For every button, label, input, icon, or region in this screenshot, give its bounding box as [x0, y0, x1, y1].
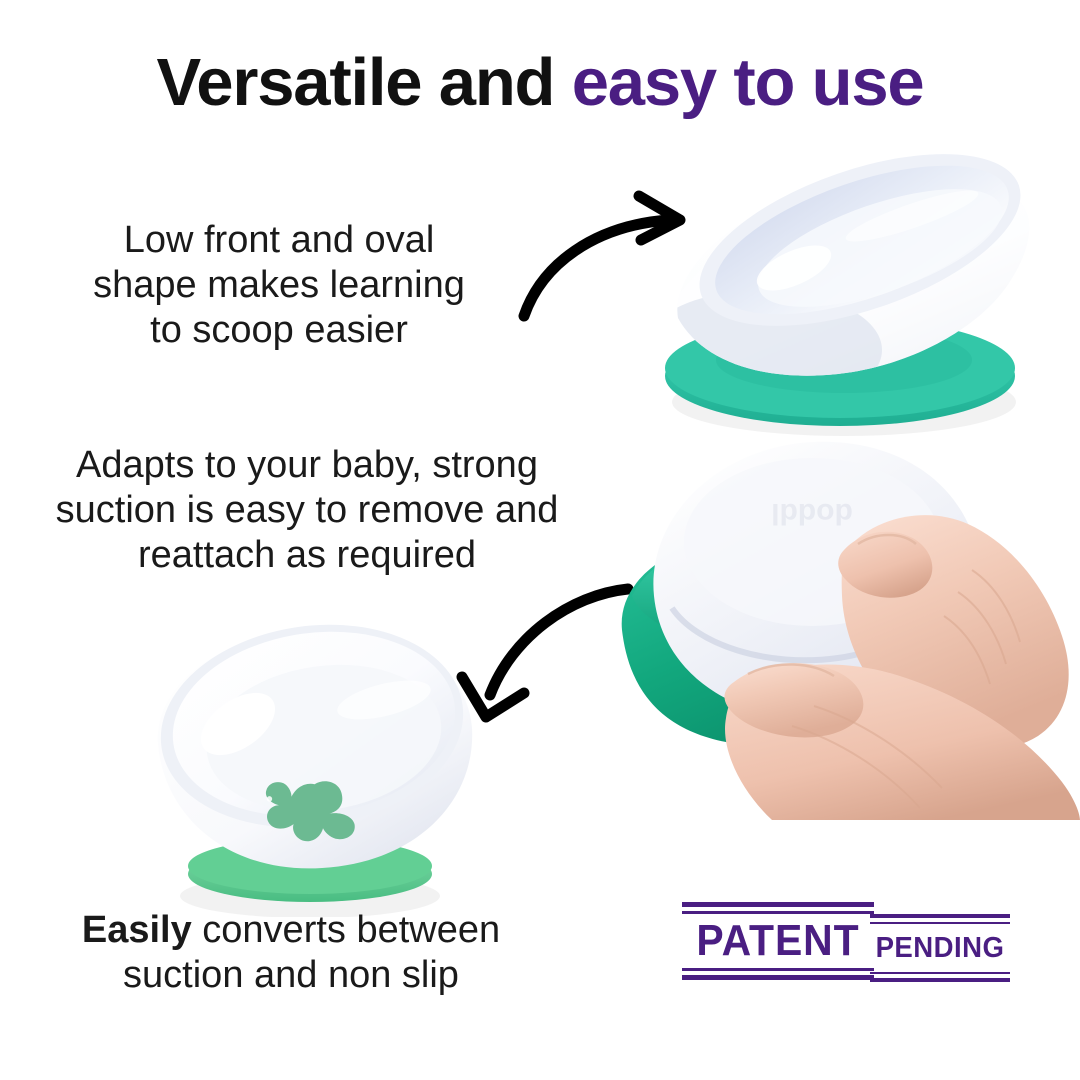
product-image-angled-suction-bowl	[612, 150, 1052, 440]
callout-easily-converts: Easily converts between suction and non …	[26, 908, 556, 998]
product-image-oval-bowl-non-slip	[132, 612, 492, 917]
callout-adapts-strong-suction: Adapts to your baby, strong suction is e…	[12, 443, 602, 577]
pending-rule-top-outer	[870, 914, 1010, 918]
page-title-accent: easy to use	[572, 45, 924, 120]
patent-rule-top-outer	[682, 902, 874, 907]
patent-badge-main: PATENT	[682, 898, 874, 984]
infographic-canvas: Versatile and easy to use Low front and …	[0, 0, 1080, 1080]
patent-rule-top-inner	[682, 911, 874, 914]
product-image-hands-removing-suction-base: doddl	[576, 420, 1080, 820]
pending-word: PENDING	[874, 928, 1007, 968]
pending-rule-bottom-inner	[870, 972, 1010, 974]
pending-rule-bottom-outer	[870, 978, 1010, 982]
page-title: Versatile and easy to use	[0, 48, 1080, 118]
patent-badge-sub: PENDING	[870, 912, 1010, 984]
patent-rule-bottom-inner	[682, 968, 874, 971]
patent-word: PATENT	[689, 916, 868, 966]
patent-rule-bottom-outer	[682, 975, 874, 980]
doddl-brand-emboss-icon: doddl	[771, 497, 853, 530]
page-title-dark: Versatile and	[157, 45, 572, 120]
svg-text:doddl: doddl	[771, 497, 853, 530]
flat-bowl-body	[148, 612, 477, 868]
pending-rule-top-inner	[870, 922, 1010, 924]
callout-low-front-oval-shape: Low front and oval shape makes learning …	[44, 218, 514, 352]
patent-pending-badge: PATENT PENDING	[682, 898, 1010, 984]
